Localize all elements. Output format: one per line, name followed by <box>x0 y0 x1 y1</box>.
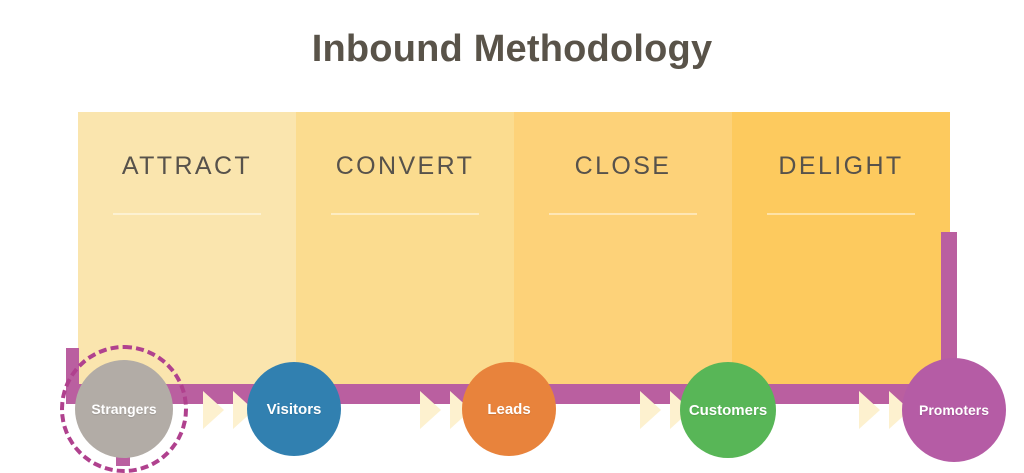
stage-divider <box>767 213 915 215</box>
node-label-promoters: Promoters <box>919 403 989 417</box>
stage-label-attract: ATTRACT <box>78 154 296 179</box>
stage-divider <box>113 213 261 215</box>
node-label-visitors: Visitors <box>267 402 322 417</box>
stage-delight[interactable]: DELIGHT <box>732 112 950 387</box>
chevron-right-icon <box>859 391 880 429</box>
inbound-methodology-diagram: ATTRACT CONVERT CLOSE DELIGHT <box>62 112 962 412</box>
node-promoters[interactable]: Promoters <box>902 358 1006 462</box>
node-customers[interactable]: Customers <box>680 362 776 458</box>
stage-divider <box>549 213 697 215</box>
stage-label-convert: CONVERT <box>296 154 514 179</box>
node-label-leads: Leads <box>487 402 530 417</box>
stage-close[interactable]: CLOSE <box>514 112 732 387</box>
page-title: Inbound Methodology <box>0 30 1024 68</box>
chevron-right-icon <box>203 391 224 429</box>
chevron-right-icon <box>640 391 661 429</box>
node-label-strangers: Strangers <box>91 402 156 416</box>
stage-divider <box>331 213 479 215</box>
stage-convert[interactable]: CONVERT <box>296 112 514 387</box>
node-label-customers: Customers <box>689 403 767 418</box>
stage-columns: ATTRACT CONVERT CLOSE DELIGHT <box>78 112 950 387</box>
stage-label-delight: DELIGHT <box>732 154 950 179</box>
chevron-right-icon <box>420 391 441 429</box>
node-strangers[interactable]: Strangers <box>75 360 173 458</box>
stage-label-close: CLOSE <box>514 154 732 179</box>
